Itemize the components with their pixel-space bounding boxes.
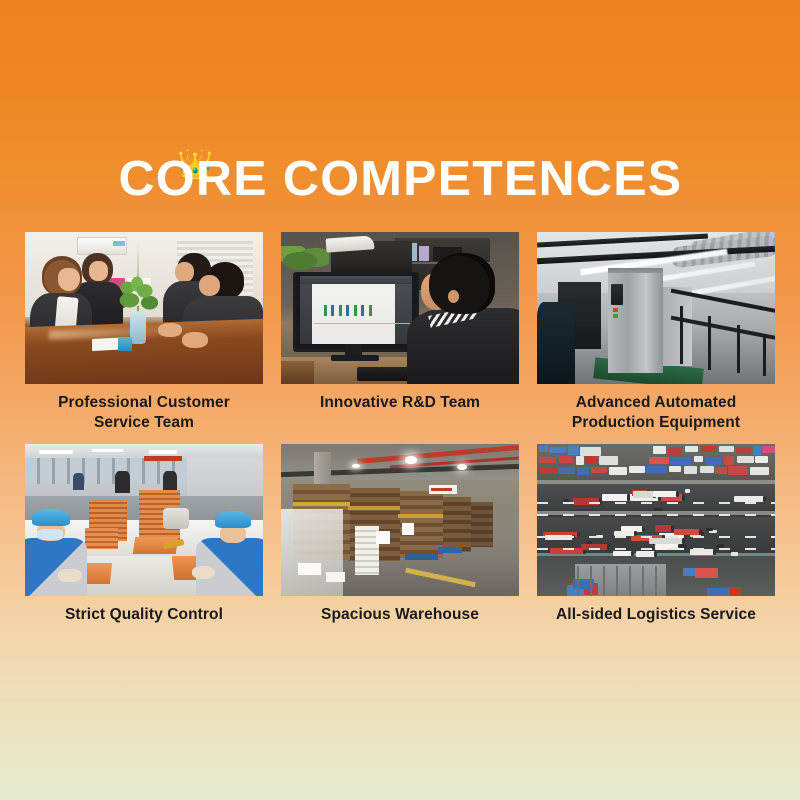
- container-block: [670, 457, 691, 465]
- lane-marking: [537, 536, 775, 538]
- container-block: [629, 466, 645, 473]
- lane-marking: [537, 514, 775, 516]
- container-block: [539, 467, 557, 474]
- container-block: [682, 494, 685, 501]
- competence-card-spacious-warehouse[interactable]: Spacious Warehouse: [281, 444, 519, 625]
- container-block: [539, 457, 556, 463]
- page-title-block: 👑 CORE COMPETENCES: [0, 150, 800, 208]
- container-block: [653, 446, 666, 454]
- card-image-meeting: [25, 232, 263, 384]
- container-block: [576, 456, 584, 465]
- roof-rib: [616, 566, 618, 596]
- container-block: [695, 568, 718, 578]
- container-block: [755, 456, 768, 463]
- competence-card-strict-quality-control[interactable]: Strict Quality Control: [25, 444, 263, 625]
- page-title: CORE COMPETENCES: [118, 150, 682, 208]
- card-caption: Spacious Warehouse: [281, 605, 519, 625]
- container-block: [701, 446, 716, 452]
- roof-rib: [642, 566, 644, 596]
- core-competences-poster: 👑 CORE COMPETENCES: [0, 0, 800, 800]
- container-block: [699, 529, 702, 535]
- container-block: [568, 446, 579, 455]
- card-caption: Professional Customer Service Team: [25, 393, 263, 433]
- roof-rib: [590, 566, 592, 596]
- roof-rib: [577, 566, 579, 596]
- card-image-warehouse: [281, 444, 519, 596]
- competence-card-all-sided-logistics-service[interactable]: All-sided Logistics Service: [537, 444, 775, 625]
- container-block: [694, 456, 703, 462]
- container-block: [539, 446, 548, 452]
- container-block: [731, 552, 738, 556]
- container-block: [669, 466, 681, 472]
- container-block: [654, 551, 657, 557]
- container-block: [580, 447, 601, 456]
- container-block: [599, 456, 618, 465]
- container-block: [631, 551, 634, 556]
- container-block: [728, 466, 748, 475]
- container-block: [706, 457, 721, 466]
- competence-grid: Professional Customer Service Team: [25, 232, 775, 625]
- lane-marking: [537, 502, 775, 504]
- container-block: [559, 456, 573, 463]
- card-caption: All-sided Logistics Service: [537, 605, 775, 625]
- container-block: [724, 456, 734, 465]
- container-block: [685, 489, 690, 493]
- competence-card-advanced-automated-production-equipment[interactable]: Advanced Automated Production Equipment: [537, 232, 775, 433]
- container-block: [642, 526, 645, 532]
- container-block: [684, 466, 697, 474]
- card-image-rnd: [281, 232, 519, 384]
- card-caption: Innovative R&D Team: [281, 393, 519, 413]
- container-block: [719, 446, 734, 452]
- competence-card-innovative-rd-team[interactable]: Innovative R&D Team: [281, 232, 519, 433]
- container-block: [577, 467, 589, 475]
- container-block: [649, 457, 669, 464]
- container-block: [587, 541, 592, 544]
- container-block: [685, 446, 698, 452]
- container-block: [676, 491, 679, 497]
- roof-rib: [603, 566, 605, 596]
- container-block: [602, 494, 630, 501]
- lane-marking: [537, 548, 775, 550]
- container-block: [707, 588, 730, 596]
- container-block: [750, 467, 769, 475]
- card-caption: Strict Quality Control: [25, 605, 263, 625]
- container-block: [558, 467, 575, 474]
- container-block: [715, 467, 727, 474]
- container-block: [762, 446, 775, 453]
- card-image-logistics: [537, 444, 775, 596]
- container-block: [668, 447, 682, 456]
- container-block: [753, 446, 761, 455]
- container-block: [674, 529, 702, 535]
- container-block: [585, 456, 597, 464]
- container-block: [591, 467, 607, 473]
- container-block: [706, 528, 713, 531]
- container-block: [736, 447, 751, 454]
- container-block: [700, 466, 714, 473]
- container-block: [549, 447, 566, 453]
- container-block: [654, 508, 662, 511]
- card-caption: Advanced Automated Production Equipment: [537, 393, 775, 433]
- competence-card-professional-customer-service-team[interactable]: Professional Customer Service Team: [25, 232, 263, 433]
- card-image-press: [537, 232, 775, 384]
- card-image-quality: [25, 444, 263, 596]
- container-block: [609, 467, 627, 475]
- roof-rib: [655, 566, 657, 596]
- roof-rib: [629, 566, 631, 596]
- container-block: [737, 456, 754, 463]
- container-block: [646, 466, 667, 473]
